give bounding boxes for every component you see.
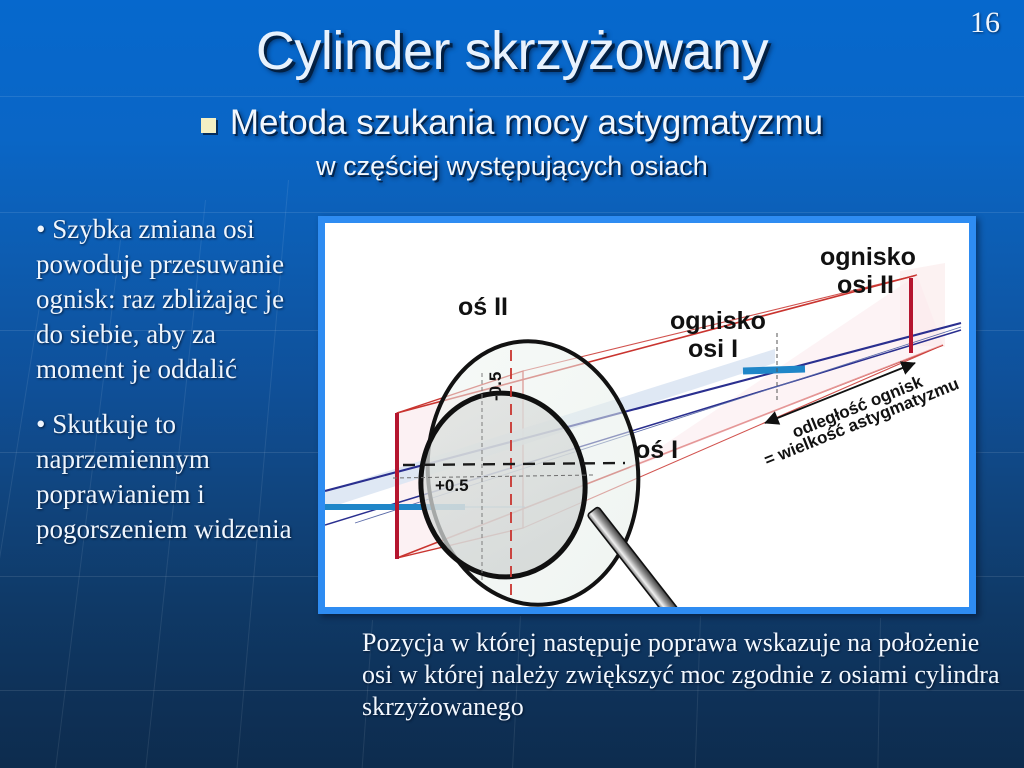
- figure-frame: oś II oś I ognisko osi I ognisko osi II …: [318, 216, 976, 614]
- label-power-plus: +0.5: [435, 476, 469, 495]
- subtitle-secondary: w częściej występujących osiach: [0, 150, 1024, 182]
- label-axis-one: oś I: [635, 436, 678, 464]
- slide-root: 16 Cylinder skrzyżowany Metoda szukania …: [0, 0, 1024, 768]
- label-focus-one-line2: osi I: [688, 335, 738, 363]
- label-focus-one-line1: ognisko: [670, 307, 766, 335]
- label-focus-two-line2: osi II: [837, 271, 894, 299]
- bg-band: [0, 96, 1024, 97]
- left-bullet-2: • Skutkuje to naprzemiennym poprawianiem…: [36, 407, 304, 547]
- left-bullet-1: • Szybka zmiana osi powoduje przesuwanie…: [36, 212, 304, 387]
- square-bullet-icon: [201, 118, 216, 133]
- figure-caption: Pozycja w której następuje poprawa wskaz…: [362, 627, 1012, 723]
- subtitle-primary: Metoda szukania mocy astygmatyzmu: [230, 103, 823, 143]
- label-axis-two: oś II: [458, 293, 508, 321]
- label-power-minus: -0.5: [486, 372, 505, 401]
- figure-canvas: oś II oś I ognisko osi I ognisko osi II …: [325, 223, 969, 607]
- page-title: Cylinder skrzyżowany: [0, 22, 1024, 80]
- optics-diagram: oś II oś I ognisko osi I ognisko osi II …: [325, 223, 969, 607]
- left-text-column: • Szybka zmiana osi powoduje przesuwanie…: [36, 212, 304, 567]
- bg-wire: [0, 300, 41, 768]
- subtitle-row: Metoda szukania mocy astygmatyzmu: [0, 103, 1024, 143]
- focus-one-bar: [743, 369, 805, 371]
- label-focus-two-line1: ognisko: [820, 243, 916, 271]
